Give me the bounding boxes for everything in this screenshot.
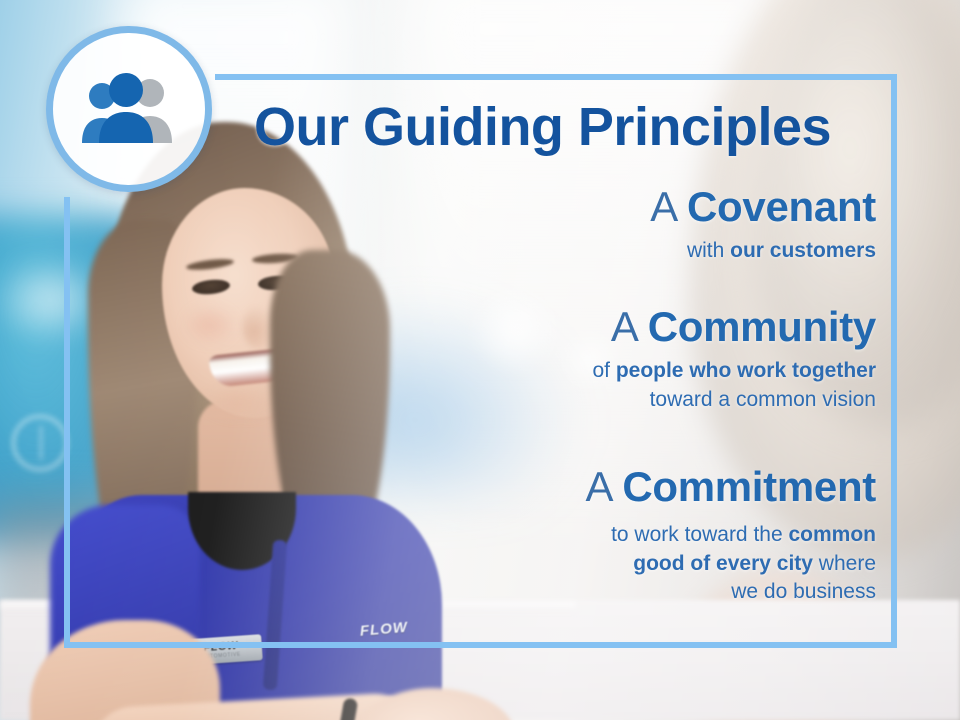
principle-subtext: of people who work together toward a com… <box>592 357 876 414</box>
principle-heading: A Community <box>592 304 876 349</box>
subtext-light: to work toward the <box>611 523 788 546</box>
principle-subtext-line: toward a common vision <box>592 386 876 415</box>
principle-subtext-line: good of every city where <box>586 550 876 579</box>
principle-commitment: A Commitment to work toward the common g… <box>586 464 876 607</box>
principle-subtext-line: we do business <box>586 578 876 607</box>
principle-heading: A Commitment <box>586 464 876 509</box>
subtext-bold: common <box>788 523 876 546</box>
principle-article: A <box>650 183 675 230</box>
principle-keyword: Community <box>648 303 876 350</box>
subtext-light: we do business <box>731 580 876 603</box>
subtext-bold: our customers <box>730 239 876 262</box>
subtext-bold: good of every city <box>633 552 813 575</box>
people-group-icon <box>74 73 184 145</box>
text-content: Our Guiding Principles A Covenant with o… <box>200 74 890 648</box>
principle-heading: A Covenant <box>650 184 876 229</box>
principle-subtext-line: with our customers <box>650 237 876 266</box>
principle-subtext: to work toward the common good of every … <box>586 521 876 607</box>
principle-subtext: with our customers <box>650 237 876 266</box>
subtext-light: with <box>687 239 730 262</box>
principle-community: A Community of people who work together … <box>592 304 876 414</box>
principle-keyword: Commitment <box>622 463 876 510</box>
principle-article: A <box>611 303 636 350</box>
subtext-bold: people who work together <box>616 359 876 382</box>
car-emblem-icon <box>12 415 68 471</box>
principle-covenant: A Covenant with our customers <box>650 184 876 266</box>
principle-subtext-line: of people who work together <box>592 357 876 386</box>
principle-keyword: Covenant <box>687 183 876 230</box>
principle-article: A <box>586 463 611 510</box>
subtext-light: where <box>813 552 876 575</box>
people-group-icon-badge <box>46 26 212 192</box>
subtext-light: of <box>592 359 615 382</box>
principle-subtext-line: to work toward the common <box>586 521 876 550</box>
subtext-light: toward a common vision <box>650 388 876 411</box>
guiding-principles-poster: FLOW AUTOMOTIVE FLOW <box>0 0 960 720</box>
page-title: Our Guiding Principles <box>200 96 885 158</box>
